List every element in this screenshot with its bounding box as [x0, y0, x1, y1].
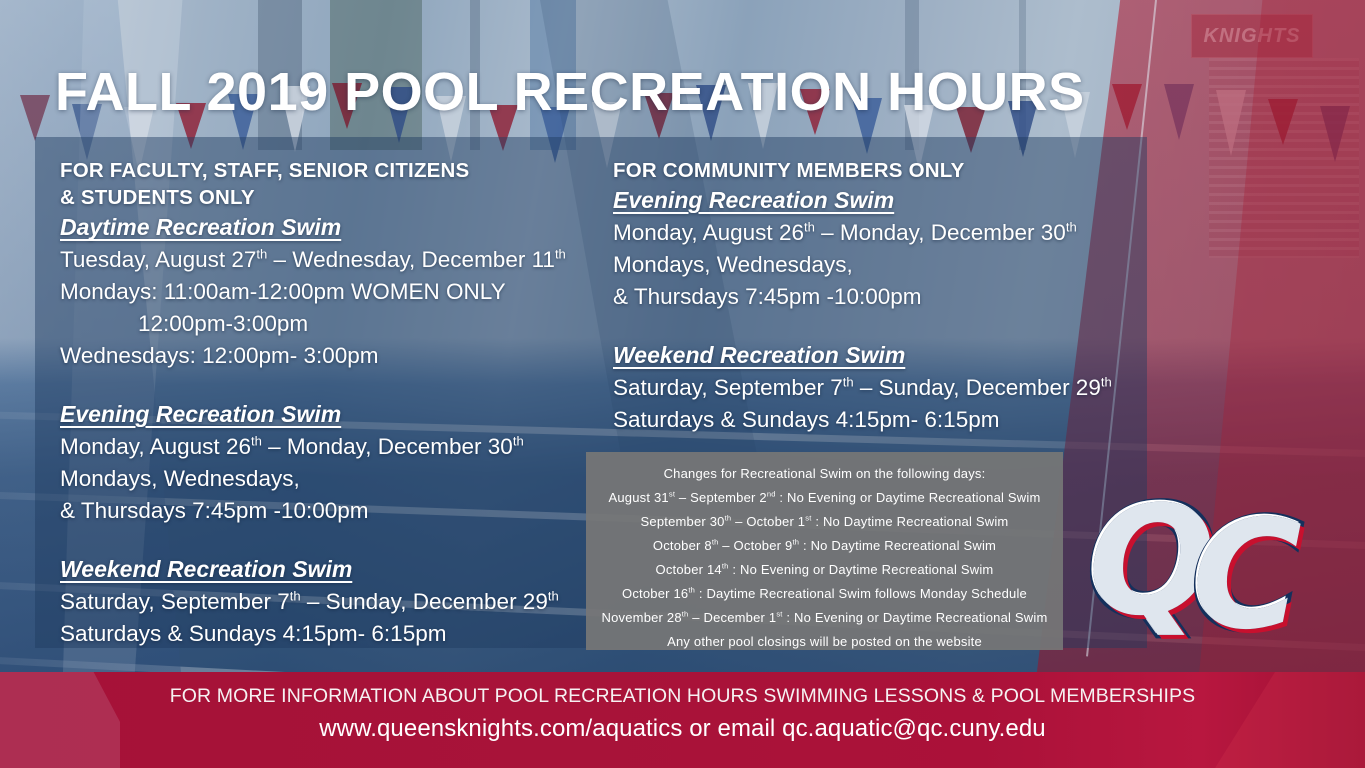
- background-knights-sign: KNIGHTS: [1191, 14, 1313, 58]
- schedule-line: Wednesdays: 12:00pm- 3:00pm: [60, 340, 605, 372]
- section-spacer: [60, 527, 605, 553]
- schedule-line: Mondays: 11:00am-12:00pm WOMEN ONLY: [60, 276, 605, 308]
- schedule-line: & Thursdays 7:45pm -10:00pm: [60, 495, 605, 527]
- section-title: Evening Recreation Swim: [613, 186, 1143, 216]
- schedule-change-line: October 8th – October 9th : No Daytime R…: [594, 534, 1055, 558]
- schedule-line: Saturday, September 7th – Sunday, Decemb…: [60, 586, 605, 618]
- schedule-change-line: October 16th : Daytime Recreational Swim…: [594, 582, 1055, 606]
- pennant-flag: [1164, 84, 1194, 140]
- pennant-flag: [20, 95, 50, 141]
- section-title: Weekend Recreation Swim: [60, 555, 605, 585]
- page-title: FALL 2019 POOL RECREATION HOURS: [55, 64, 1085, 121]
- schedule-change-line: Any other pool closings will be posted o…: [594, 630, 1055, 654]
- schedule-change-line: November 28th – December 1st : No Evenin…: [594, 606, 1055, 630]
- left-column-heading-line1: FOR FACULTY, STAFF, SENIOR CITIZENS: [60, 158, 605, 184]
- section-spacer: [613, 313, 1143, 339]
- schedule-changes-list: Changes for Recreational Swim on the fol…: [594, 462, 1055, 654]
- left-column-sections: Daytime Recreation SwimTuesday, August 2…: [60, 213, 605, 649]
- footer-info-line: FOR MORE INFORMATION ABOUT POOL RECREATI…: [0, 685, 1365, 708]
- schedule-line: Saturday, September 7th – Sunday, Decemb…: [613, 372, 1143, 404]
- qc-athletics-logo: Q C: [1088, 495, 1310, 660]
- pennant-flag: [1268, 99, 1298, 145]
- schedule-line: Tuesday, August 27th – Wednesday, Decemb…: [60, 244, 605, 276]
- section-title: Weekend Recreation Swim: [613, 341, 1143, 371]
- right-column-heading-line1: FOR COMMUNITY MEMBERS ONLY: [613, 158, 1143, 184]
- schedule-line: Mondays, Wednesdays,: [60, 463, 605, 495]
- schedule-line: Saturdays & Sundays 4:15pm- 6:15pm: [613, 404, 1143, 436]
- schedule-changes-box: Changes for Recreational Swim on the fol…: [586, 452, 1063, 650]
- schedule-line: & Thursdays 7:45pm -10:00pm: [613, 281, 1143, 313]
- footer-contact-line: www.queensknights.com/aquatics or email …: [0, 715, 1365, 743]
- schedule-change-line: September 30th – October 1st : No Daytim…: [594, 510, 1055, 534]
- schedule-line: Saturdays & Sundays 4:15pm- 6:15pm: [60, 618, 605, 650]
- right-column-sections: Evening Recreation SwimMonday, August 26…: [613, 186, 1143, 435]
- schedule-line: Mondays, Wednesdays,: [613, 249, 1143, 281]
- footer-banner: FOR MORE INFORMATION ABOUT POOL RECREATI…: [0, 672, 1365, 768]
- left-column-heading-line2: & STUDENTS ONLY: [60, 185, 605, 211]
- schedule-line: Monday, August 26th – Monday, December 3…: [613, 217, 1143, 249]
- left-column: FOR FACULTY, STAFF, SENIOR CITIZENS & ST…: [60, 158, 605, 650]
- schedule-change-line: October 14th : No Evening or Daytime Rec…: [594, 558, 1055, 582]
- pennant-flag: [1112, 84, 1142, 130]
- schedule-change-line: August 31st – September 2nd : No Evening…: [594, 486, 1055, 510]
- section-title: Daytime Recreation Swim: [60, 213, 605, 243]
- pennant-flag: [1216, 90, 1246, 156]
- schedule-line: Monday, August 26th – Monday, December 3…: [60, 431, 605, 463]
- pennant-flag: [1320, 106, 1350, 162]
- schedule-line: 12:00pm-3:00pm: [60, 308, 605, 340]
- pool-hours-poster: KNIGHTS FALL 2019 POOL RECREATION HOURS …: [0, 0, 1365, 768]
- section-title: Evening Recreation Swim: [60, 400, 605, 430]
- right-column: FOR COMMUNITY MEMBERS ONLY Evening Recre…: [613, 158, 1143, 436]
- logo-letter-c: C: [1192, 501, 1296, 651]
- schedule-change-line: Changes for Recreational Swim on the fol…: [594, 462, 1055, 486]
- section-spacer: [60, 372, 605, 398]
